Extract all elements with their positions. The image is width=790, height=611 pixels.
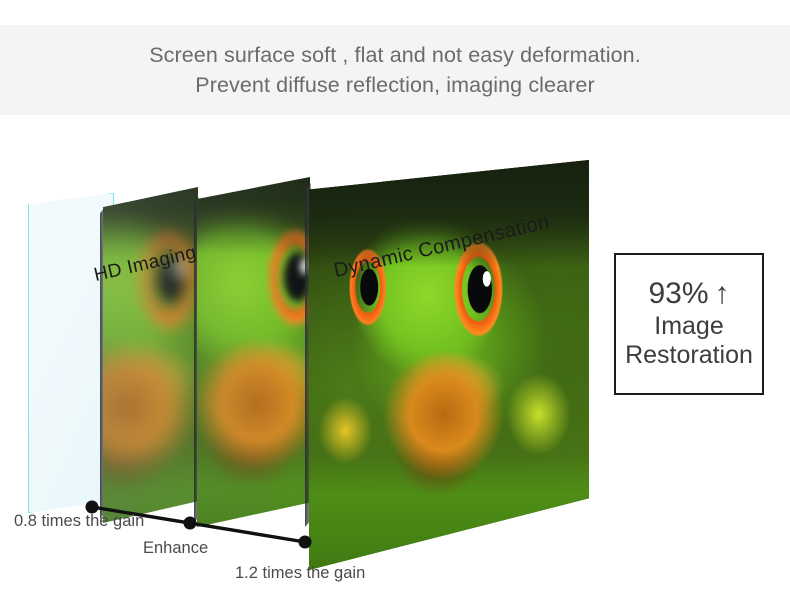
screenshot-stage: Screen surface soft , flat and not easy … bbox=[0, 0, 790, 611]
image-panel-heavy-blur bbox=[103, 187, 198, 523]
image-panel-medium-blur bbox=[197, 177, 310, 527]
header-line-1: Screen surface soft , flat and not easy … bbox=[149, 40, 641, 70]
frog-artwork-blurred bbox=[103, 187, 198, 523]
gain-label-high: 1.2 times the gain bbox=[235, 564, 365, 583]
stat-label-line-1: Image bbox=[654, 312, 723, 341]
gain-label-low: 0.8 times the gain bbox=[14, 512, 144, 531]
stat-value-row: 93% ↑ bbox=[648, 278, 729, 310]
arrow-up-icon: ↑ bbox=[715, 279, 730, 309]
stat-percentage-value: 93% bbox=[648, 278, 708, 310]
header-text-block: Screen surface soft , flat and not easy … bbox=[0, 25, 790, 115]
gain-label-middle: Enhance bbox=[143, 539, 208, 558]
header-line-2: Prevent diffuse reflection, imaging clea… bbox=[195, 70, 594, 100]
image-restoration-stat-box: 93% ↑ Image Restoration bbox=[614, 253, 764, 395]
frog-artwork-semi-blurred bbox=[197, 177, 310, 527]
stat-label-line-2: Restoration bbox=[625, 341, 753, 370]
